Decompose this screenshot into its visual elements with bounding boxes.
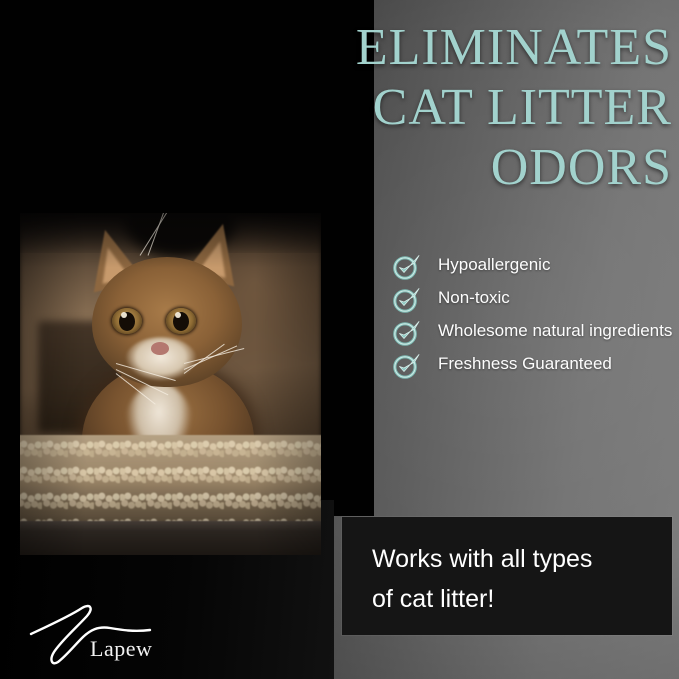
- benefit-label: Hypoallergenic: [438, 250, 550, 277]
- headline-line-3: ODORS: [272, 138, 672, 198]
- benefit-item: Hypoallergenic: [392, 250, 679, 280]
- benefits-list: Hypoallergenic Non-toxic Wholesome n: [392, 250, 679, 382]
- benefit-label: Freshness Guaranteed: [438, 349, 612, 376]
- benefit-item: Freshness Guaranteed: [392, 349, 679, 379]
- photo-edge-shading: [20, 213, 321, 555]
- headline-line-1: ELIMINATES: [272, 18, 672, 78]
- benefit-item: Non-toxic: [392, 283, 679, 313]
- headline: ELIMINATES CAT LITTER ODORS: [272, 18, 672, 198]
- check-circle-icon: [392, 350, 422, 380]
- headline-line-2: CAT LITTER: [272, 78, 672, 138]
- kitten-in-litter-box-photo: [20, 213, 321, 555]
- callout-line-1: Works with all types: [372, 539, 652, 579]
- check-circle-icon: [392, 284, 422, 314]
- check-circle-icon: [392, 251, 422, 281]
- check-circle-icon: [392, 317, 422, 347]
- brand-name: Lapew: [90, 636, 152, 662]
- benefit-label: Wholesome natural ingredients: [438, 316, 672, 343]
- product-ad-banner: ELIMINATES CAT LITTER ODORS Hypoallergen…: [0, 0, 679, 679]
- benefit-label: Non-toxic: [438, 283, 510, 310]
- callout-line-2: of cat litter!: [372, 579, 652, 619]
- brand-logo: Lapew: [26, 598, 176, 670]
- benefit-item: Wholesome natural ingredients: [392, 316, 679, 346]
- callout-text: Works with all types of cat litter!: [372, 539, 652, 619]
- callout-box: Works with all types of cat litter!: [342, 517, 672, 635]
